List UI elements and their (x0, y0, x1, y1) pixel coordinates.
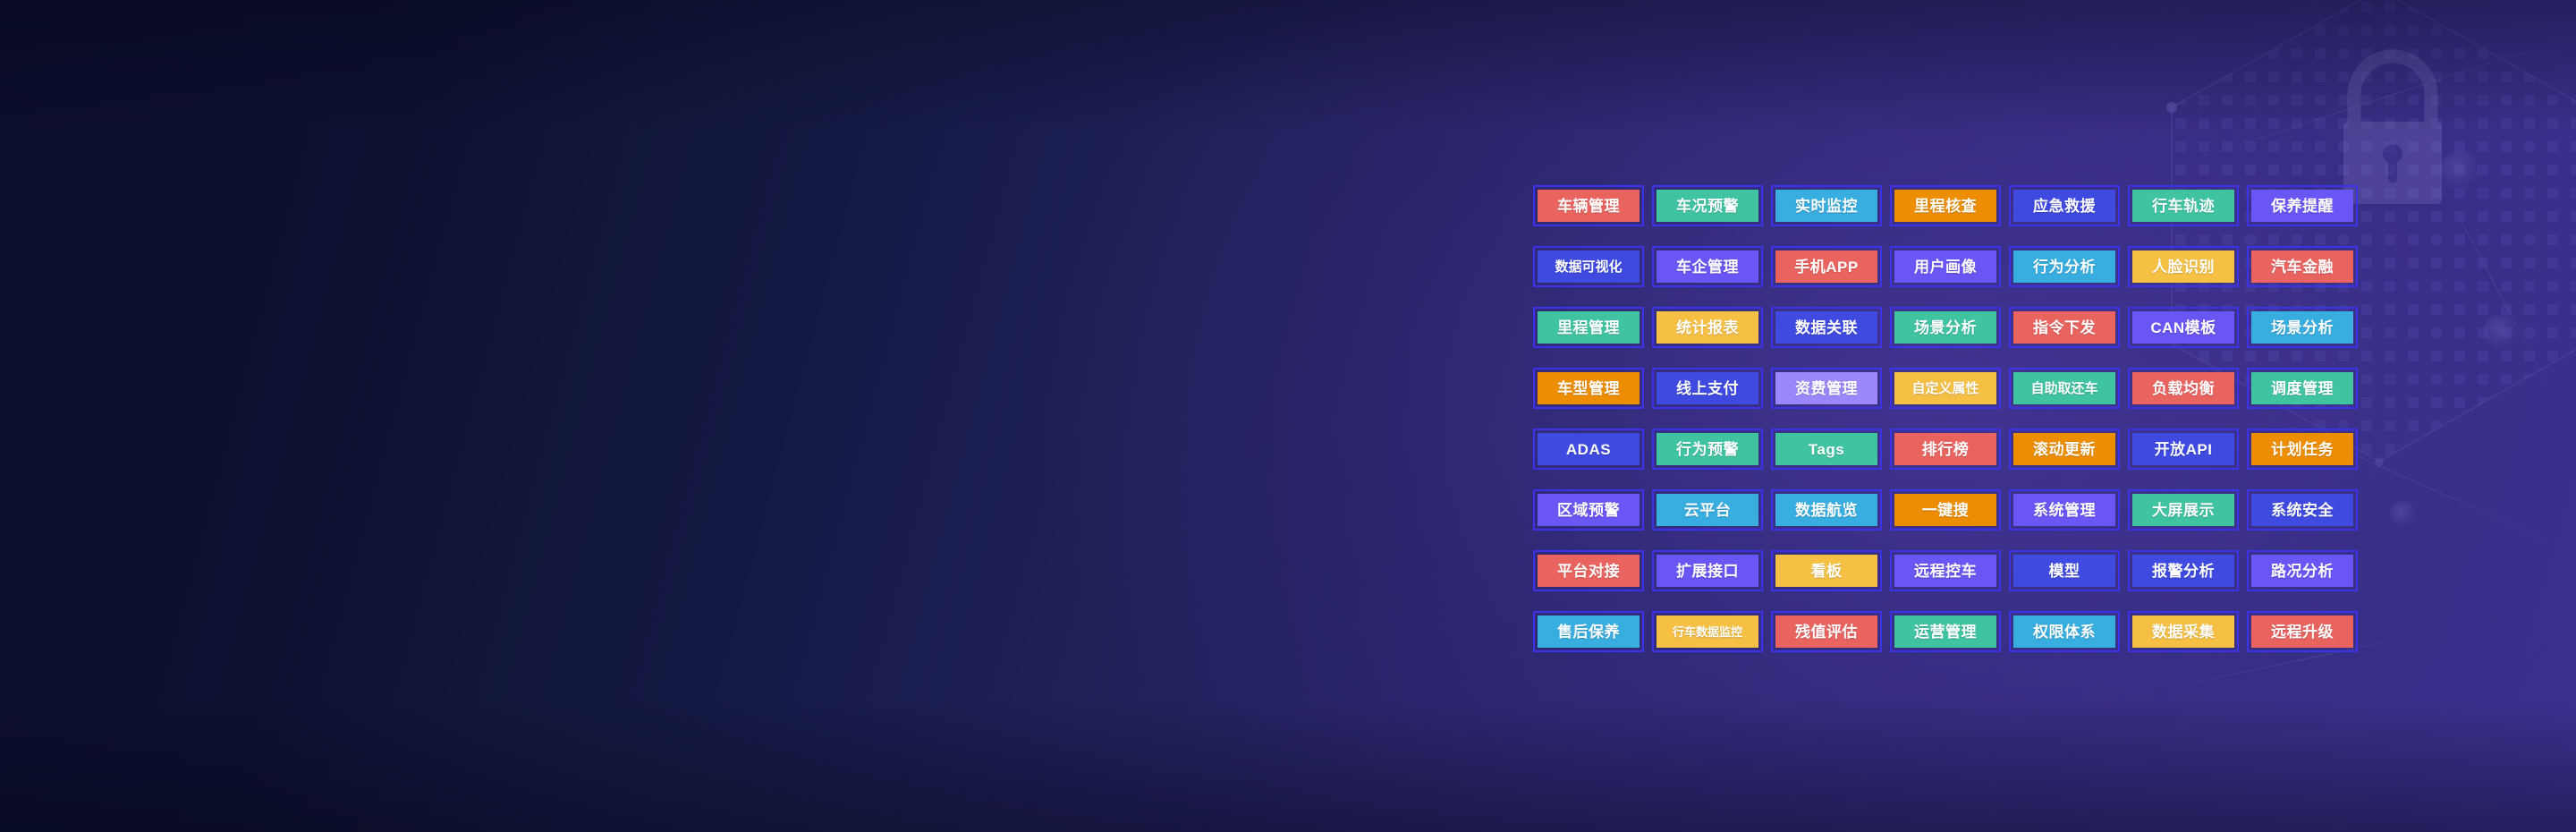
feature-tile-label: 残值评估 (1775, 616, 1877, 648)
feature-tile-label: 数据关联 (1775, 311, 1877, 344)
feature-tile[interactable]: 运营管理 (1890, 611, 2001, 652)
glow-orb (2440, 150, 2481, 191)
feature-tile-label: 场景分析 (2251, 311, 2353, 344)
feature-tile[interactable]: 汽车金融 (2247, 246, 2358, 287)
feature-tile[interactable]: 自助取还车 (2009, 368, 2120, 409)
feature-tile-label: ADAS (1538, 433, 1640, 465)
feature-tile[interactable]: Tags (1771, 429, 1882, 470)
feature-tile-label: 人脸识别 (2132, 250, 2234, 283)
feature-tile[interactable]: 保养提醒 (2247, 185, 2358, 226)
feature-tile-label: 统计报表 (1657, 311, 1758, 344)
feature-tile[interactable]: 手机APP (1771, 246, 1882, 287)
feature-tile-label: 车辆管理 (1538, 190, 1640, 222)
feature-tile-label: 云平台 (1657, 494, 1758, 526)
feature-tile[interactable]: 排行榜 (1890, 429, 2001, 470)
feature-tile[interactable]: 里程核查 (1890, 185, 2001, 226)
feature-tile[interactable]: 行为预警 (1652, 429, 1763, 470)
feature-tile[interactable]: 云平台 (1652, 489, 1763, 531)
feature-tile[interactable]: 车辆管理 (1533, 185, 1644, 226)
feature-tile[interactable]: 场景分析 (2247, 307, 2358, 348)
feature-tile[interactable]: 数据可视化 (1533, 246, 1644, 287)
feature-tile[interactable]: 平台对接 (1533, 550, 1644, 591)
feature-tile-label: 数据航览 (1775, 494, 1877, 526)
feature-tile-label: 指令下发 (2013, 311, 2115, 344)
feature-tile[interactable]: 残值评估 (1771, 611, 1882, 652)
feature-tile[interactable]: 里程管理 (1533, 307, 1644, 348)
feature-tile-label: 开放API (2132, 433, 2234, 465)
feature-tile-label: 系统管理 (2013, 494, 2115, 526)
feature-tile-label: 看板 (1775, 555, 1877, 587)
feature-tile[interactable]: 场景分析 (1890, 307, 2001, 348)
feature-tile-label: 行车数据监控 (1657, 616, 1758, 648)
feature-tile[interactable]: 指令下发 (2009, 307, 2120, 348)
feature-tile-label: 计划任务 (2251, 433, 2353, 465)
feature-tile-label: 线上支付 (1657, 372, 1758, 404)
feature-tile-label: 系统安全 (2251, 494, 2353, 526)
feature-tile-label: 车企管理 (1657, 250, 1758, 283)
feature-tile-label: 车型管理 (1538, 372, 1640, 404)
feature-tile-label: 车况预警 (1657, 190, 1758, 222)
feature-tile[interactable]: 看板 (1771, 550, 1882, 591)
feature-tile-label: 远程升级 (2251, 616, 2353, 648)
feature-tile[interactable]: 车况预警 (1652, 185, 1763, 226)
feature-tile-label: 数据可视化 (1538, 250, 1640, 283)
feature-tile-label: 平台对接 (1538, 555, 1640, 587)
feature-tile-label: 保养提醒 (2251, 190, 2353, 222)
feature-tile[interactable]: 自定义属性 (1890, 368, 2001, 409)
feature-tile[interactable]: 模型 (2009, 550, 2120, 591)
feature-tile-label: 远程控车 (1894, 555, 1996, 587)
feature-tile[interactable]: 计划任务 (2247, 429, 2358, 470)
feature-tile[interactable]: 线上支付 (1652, 368, 1763, 409)
feature-tile-label: 手机APP (1775, 250, 1877, 283)
feature-tile-label: 路况分析 (2251, 555, 2353, 587)
feature-tile-label: 扩展接口 (1657, 555, 1758, 587)
feature-tile[interactable]: 资费管理 (1771, 368, 1882, 409)
feature-tile-label: 区域预警 (1538, 494, 1640, 526)
feature-tile-label: 权限体系 (2013, 616, 2115, 648)
feature-tile-label: CAN模板 (2132, 311, 2234, 344)
feature-tile-label: 行车轨迹 (2132, 190, 2234, 222)
feature-tile-label: 报警分析 (2132, 555, 2234, 587)
feature-tile[interactable]: 权限体系 (2009, 611, 2120, 652)
feature-tile[interactable]: 车型管理 (1533, 368, 1644, 409)
feature-tile-label: 调度管理 (2251, 372, 2353, 404)
feature-tile-label: 模型 (2013, 555, 2115, 587)
feature-tile[interactable]: 行车轨迹 (2128, 185, 2239, 226)
feature-tile[interactable]: 大屏展示 (2128, 489, 2239, 531)
feature-tile[interactable]: 人脸识别 (2128, 246, 2239, 287)
feature-tile[interactable]: 远程升级 (2247, 611, 2358, 652)
feature-tile[interactable]: 滚动更新 (2009, 429, 2120, 470)
feature-tile[interactable]: 用户画像 (1890, 246, 2001, 287)
feature-tile[interactable]: 数据航览 (1771, 489, 1882, 531)
feature-tile-label: 行为分析 (2013, 250, 2115, 283)
feature-tile[interactable]: 应急救援 (2009, 185, 2120, 226)
feature-tile[interactable]: CAN模板 (2128, 307, 2239, 348)
glow-orb (2390, 501, 2417, 528)
feature-tile-label: 资费管理 (1775, 372, 1877, 404)
feature-tile-label: 排行榜 (1894, 433, 1996, 465)
feature-tile[interactable]: 实时监控 (1771, 185, 1882, 226)
feature-tile-grid: 车辆管理车况预警实时监控里程核查应急救援行车轨迹保养提醒数据可视化车企管理手机A… (1533, 185, 2358, 652)
page-root: 车辆管理车况预警实时监控里程核查应急救援行车轨迹保养提醒数据可视化车企管理手机A… (0, 0, 2576, 832)
feature-tile-label: 行为预警 (1657, 433, 1758, 465)
feature-tile[interactable]: 负载均衡 (2128, 368, 2239, 409)
feature-tile[interactable]: 行车数据监控 (1652, 611, 1763, 652)
feature-tile[interactable]: 路况分析 (2247, 550, 2358, 591)
feature-tile-label: 滚动更新 (2013, 433, 2115, 465)
feature-tile-label: 汽车金融 (2251, 250, 2353, 283)
feature-tile[interactable]: 统计报表 (1652, 307, 1763, 348)
feature-tile-label: 里程核查 (1894, 190, 1996, 222)
feature-tile[interactable]: 车企管理 (1652, 246, 1763, 287)
feature-tile[interactable]: 调度管理 (2247, 368, 2358, 409)
feature-tile-label: 应急救援 (2013, 190, 2115, 222)
feature-tile[interactable]: 系统管理 (2009, 489, 2120, 531)
feature-tile-label: 大屏展示 (2132, 494, 2234, 526)
feature-tile[interactable]: 报警分析 (2128, 550, 2239, 591)
feature-tile-label: Tags (1775, 433, 1877, 465)
feature-tile-label: 运营管理 (1894, 616, 1996, 648)
feature-tile-label: 里程管理 (1538, 311, 1640, 344)
feature-tile[interactable]: 一键搜 (1890, 489, 2001, 531)
feature-tile[interactable]: 区域预警 (1533, 489, 1644, 531)
feature-tile[interactable]: 售后保养 (1533, 611, 1644, 652)
feature-tile[interactable]: 开放API (2128, 429, 2239, 470)
glow-orb (2483, 315, 2519, 351)
feature-tile[interactable]: ADAS (1533, 429, 1644, 470)
feature-tile[interactable]: 数据关联 (1771, 307, 1882, 348)
feature-tile[interactable]: 数据采集 (2128, 611, 2239, 652)
feature-tile-label: 场景分析 (1894, 311, 1996, 344)
feature-tile-label: 自助取还车 (2013, 372, 2115, 404)
feature-tile-label: 负载均衡 (2132, 372, 2234, 404)
feature-tile-label: 自定义属性 (1894, 372, 1996, 404)
network-line (2114, 30, 2576, 185)
feature-tile[interactable]: 扩展接口 (1652, 550, 1763, 591)
feature-tile[interactable]: 行为分析 (2009, 246, 2120, 287)
feature-tile[interactable]: 系统安全 (2247, 489, 2358, 531)
feature-tile-label: 用户画像 (1894, 250, 1996, 283)
feature-tile-label: 一键搜 (1894, 494, 1996, 526)
feature-tile-label: 实时监控 (1775, 190, 1877, 222)
feature-tile[interactable]: 远程控车 (1890, 550, 2001, 591)
network-line (2423, 150, 2550, 387)
feature-tile-label: 数据采集 (2132, 616, 2234, 648)
feature-tile-label: 售后保养 (1538, 616, 1640, 648)
